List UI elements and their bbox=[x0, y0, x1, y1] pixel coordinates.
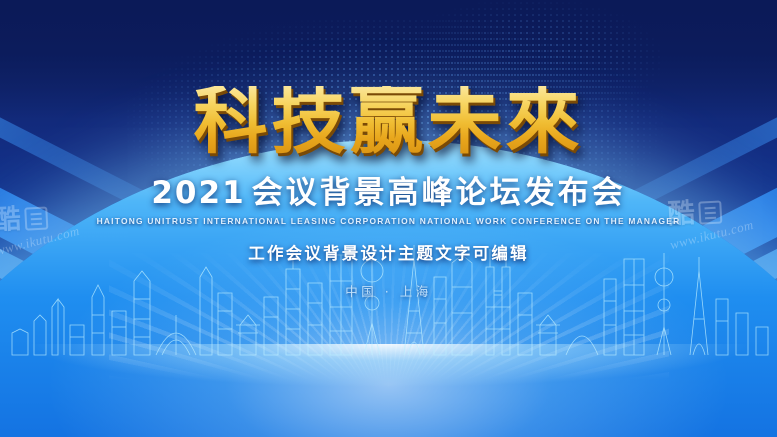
poster-tagline: 工作会议背景设计主题文字可编辑 bbox=[0, 240, 777, 264]
poster-location: 中国 · 上海 bbox=[0, 281, 777, 300]
conference-poster: 科技赢未來 2021会议背景高峰论坛发布会 HAITONG UNITRUST I… bbox=[0, 0, 777, 437]
poster-text-block: 科技赢未來 2021会议背景高峰论坛发布会 HAITONG UNITRUST I… bbox=[0, 0, 777, 300]
poster-english-subtitle: HAITONG UNITRUST INTERNATIONAL LEASING C… bbox=[0, 216, 777, 226]
poster-main-title: 科技赢未來 bbox=[0, 86, 777, 157]
subtitle-text: 会议背景高峰论坛发布会 bbox=[252, 175, 626, 211]
poster-subtitle: 2021会议背景高峰论坛发布会 bbox=[0, 167, 777, 212]
subtitle-year: 2021 bbox=[151, 175, 245, 211]
